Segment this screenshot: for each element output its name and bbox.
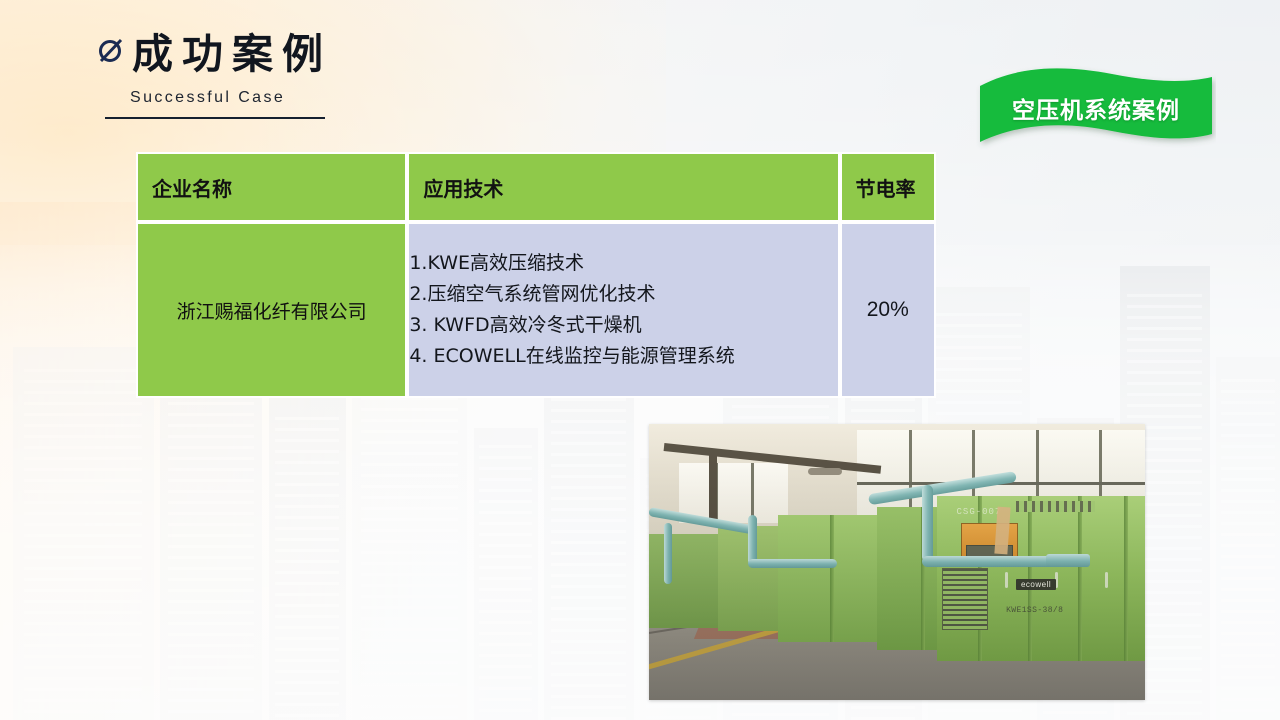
section-ribbon-banner: 空压机系统案例 bbox=[976, 60, 1216, 158]
cell-saving-rate: 20% bbox=[840, 222, 937, 398]
table-row: 浙江赐福化纤有限公司 1.KWE高效压缩技术 2.压缩空气系统管网优化技术 3.… bbox=[136, 222, 936, 398]
list-item: 3. KWFD高效冷冬式干燥机 bbox=[409, 310, 837, 341]
page-title-block: 成功案例 Successful Case bbox=[96, 34, 332, 119]
case-table: 企业名称 应用技术 节电率 浙江赐福化纤有限公司 1.KWE高效压缩技术 2.压… bbox=[136, 152, 936, 398]
cell-technology-list: 1.KWE高效压缩技术 2.压缩空气系统管网优化技术 3. KWFD高效冷冬式干… bbox=[407, 222, 839, 398]
list-item: 1.KWE高效压缩技术 bbox=[409, 248, 837, 279]
column-header-saving-rate: 节电率 bbox=[840, 152, 937, 222]
null-slash-icon bbox=[96, 36, 126, 66]
page-subtitle: Successful Case bbox=[130, 89, 332, 107]
title-underline bbox=[105, 117, 325, 119]
column-header-technology: 应用技术 bbox=[407, 152, 839, 222]
column-header-company: 企业名称 bbox=[136, 152, 407, 222]
list-item: 2.压缩空气系统管网优化技术 bbox=[409, 279, 837, 310]
list-item: 4. ECOWELL在线监控与能源管理系统 bbox=[409, 341, 837, 372]
ribbon-label: 空压机系统案例 bbox=[976, 60, 1216, 158]
case-photo: CSG-007 ecowell KWE1SS-38/8 bbox=[649, 424, 1145, 700]
table-header-row: 企业名称 应用技术 节电率 bbox=[136, 152, 936, 222]
cell-company-name: 浙江赐福化纤有限公司 bbox=[136, 222, 407, 398]
technology-list: 1.KWE高效压缩技术 2.压缩空气系统管网优化技术 3. KWFD高效冷冬式干… bbox=[409, 248, 837, 371]
page-title: 成功案例 bbox=[132, 34, 332, 75]
photo-color-tone bbox=[649, 424, 1145, 700]
